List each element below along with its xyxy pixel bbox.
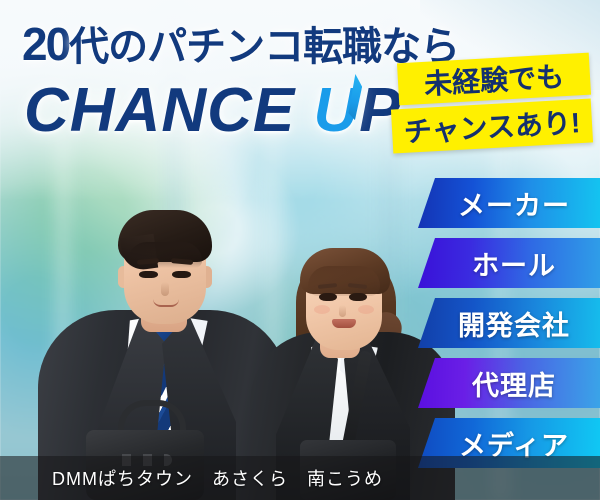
category-item-development-company[interactable]: 開発会社 — [418, 298, 600, 348]
advertisement-banner[interactable]: 20代のパチンコ転職なら CHANCE UP 未経験でも チャンスあり! メーカ… — [0, 0, 600, 500]
logo-word-chance: CHANCE — [24, 76, 313, 145]
male-mouth — [153, 299, 179, 307]
category-item-agency[interactable]: 代理店 — [418, 358, 600, 408]
female-nose — [339, 305, 346, 317]
category-label-agency: 代理店 — [418, 364, 600, 403]
male-nose — [161, 282, 169, 296]
female-hair-bangs — [308, 266, 380, 296]
female-cheek-left — [314, 305, 330, 314]
female-eye-left — [319, 293, 337, 301]
category-list: メーカー ホール 開発会社 代理店 メディア — [418, 178, 600, 478]
footer-credit-text: DMMぱちタウン あさくら 南こうめ — [0, 465, 383, 491]
female-cheek-right — [358, 305, 374, 314]
badge-chance-available-label: チャンスあり! — [403, 101, 581, 151]
category-label-development-company: 開発会社 — [418, 304, 600, 343]
footer-bar: DMMぱちタウン あさくら 南こうめ — [0, 456, 600, 500]
male-eye-right — [172, 271, 191, 278]
female-eye-right — [349, 293, 367, 301]
category-label-maker: メーカー — [418, 184, 600, 223]
logo-letter-u: U — [313, 72, 359, 150]
category-item-hall[interactable]: ホール — [418, 238, 600, 288]
headline-number: 20 — [22, 18, 69, 70]
female-mouth — [332, 319, 356, 328]
male-eye-left — [139, 271, 158, 278]
category-item-maker[interactable]: メーカー — [418, 178, 600, 228]
chance-up-logo: CHANCE UP — [24, 72, 424, 150]
page-title: 20代のパチンコ転職なら — [22, 16, 442, 72]
badge-no-experience-label: 未経験でも — [423, 55, 565, 103]
category-label-hall: ホール — [418, 244, 600, 283]
